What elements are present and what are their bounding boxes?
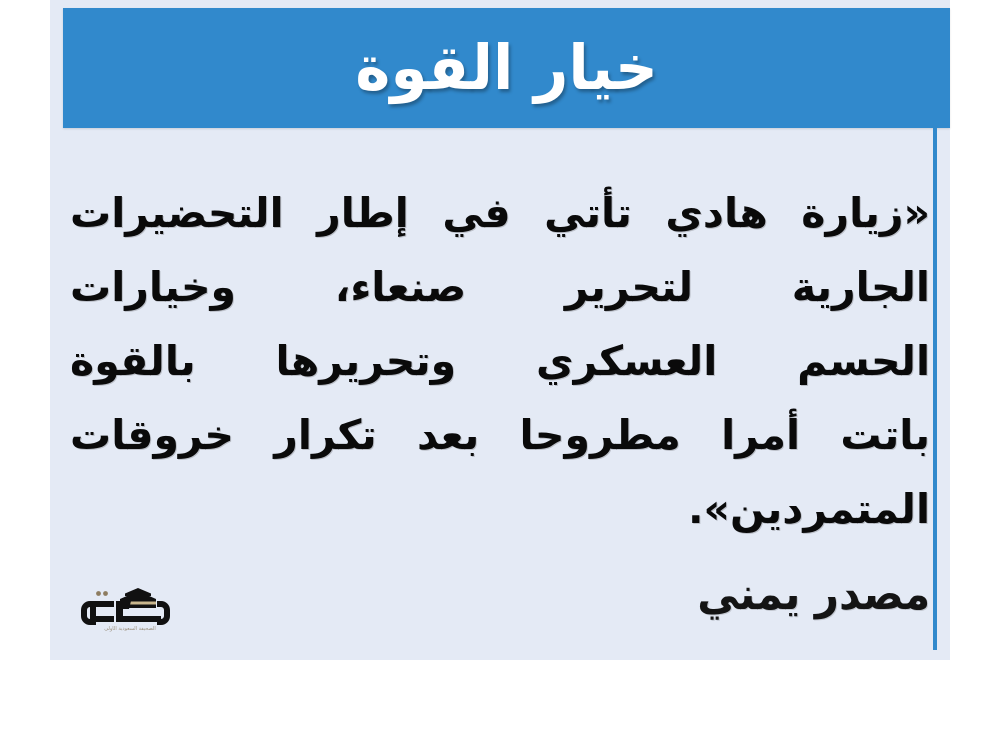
logo-subtitle: الصحيفة السعودية الأولى <box>70 626 190 632</box>
quote-attribution: مصدر يمني <box>697 569 930 620</box>
quote-card: خيار القوة «زيارة هادي تأتي في إطار التح… <box>50 0 950 660</box>
makkah-newspaper-logo: الصحيفة السعودية الأولى <box>70 577 190 639</box>
quote-line: باتت أمرا مطروحا بعد تكرار خروقات <box>70 398 930 472</box>
quote-line: الحسم العسكري وتحريرها بالقوة <box>70 324 930 398</box>
page-title: خيار القوة <box>355 37 658 99</box>
quote-text-block: «زيارة هادي تأتي في إطار التحضيرات الجار… <box>70 176 930 546</box>
right-accent-bar <box>933 8 937 650</box>
makkah-wordmark <box>81 601 170 625</box>
attribution-row: مصدر يمني <box>70 565 930 645</box>
card-header-banner: خيار القوة <box>63 8 950 128</box>
quote-line: «زيارة هادي تأتي في إطار التحضيرات <box>70 176 930 250</box>
quote-line: المتمردين». <box>70 472 930 546</box>
quote-line: الجارية لتحرير صنعاء، وخيارات <box>70 250 930 324</box>
